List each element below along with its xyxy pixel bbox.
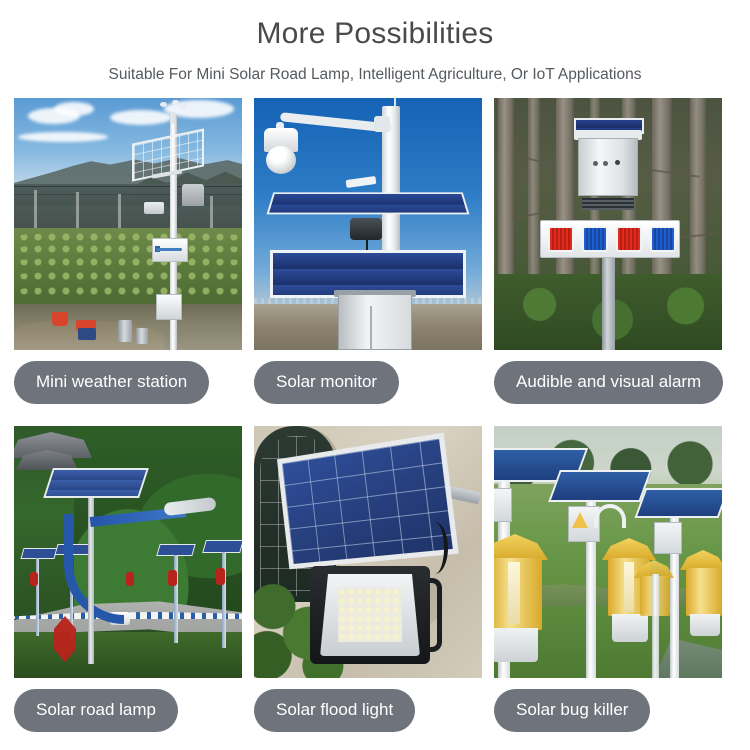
photo-solar-monitor	[254, 98, 482, 350]
distant-lamp-pole	[36, 558, 39, 636]
gallery-item[interactable]: Solar monitor	[254, 98, 482, 404]
caption-solar-bug-killer[interactable]: Solar bug killer	[494, 689, 650, 732]
greenhouse-post	[118, 194, 121, 230]
alarm-lamp-blue	[582, 226, 608, 252]
caption-solar-monitor[interactable]: Solar monitor	[254, 361, 399, 404]
anemometer-cup	[172, 100, 179, 105]
distant-lamp-pole	[222, 552, 226, 648]
greenhouse-post	[76, 192, 79, 230]
caption-mini-weather-station[interactable]: Mini weather station	[14, 361, 209, 404]
anemometer-cup	[180, 104, 187, 109]
alarm-pole	[602, 244, 615, 350]
sensor-hole	[603, 161, 608, 166]
gallery-item[interactable]: Audible and visual alarm	[494, 98, 722, 404]
greenhouse-netting	[14, 184, 242, 230]
page-title: More Possibilities	[0, 14, 750, 54]
crop-row	[14, 257, 242, 268]
photo-audible-visual-alarm	[494, 98, 722, 350]
caption-solar-road-lamp[interactable]: Solar road lamp	[14, 689, 178, 732]
solar-panel	[548, 470, 652, 502]
caption-solar-flood-light[interactable]: Solar flood light	[254, 689, 415, 732]
alarm-lamp-red	[548, 226, 574, 252]
upper-solar-panel	[267, 192, 470, 214]
cabinet-door-seam	[370, 306, 372, 350]
crop-row	[14, 286, 242, 297]
uv-tube	[508, 562, 520, 624]
photo-solar-road-lamp	[14, 426, 242, 678]
caption-audible-and-visual-alarm[interactable]: Audible and visual alarm	[494, 361, 723, 404]
alarm-lamp-red	[616, 226, 642, 252]
ptz-dome-camera	[266, 146, 296, 174]
photo-mini-weather-station	[14, 98, 242, 350]
insect-lamp-cage	[686, 568, 722, 616]
gallery-item[interactable]: Solar bug killer	[494, 426, 722, 732]
greenhouse-post	[34, 190, 37, 230]
gallery-item[interactable]: Solar road lamp	[14, 426, 242, 732]
lamp-pole	[652, 574, 659, 678]
chinese-knot-decoration	[216, 568, 225, 585]
photo-solar-flood-light	[254, 426, 482, 678]
uv-tube	[624, 562, 634, 612]
photo-solar-bug-killer	[494, 426, 722, 678]
sensor-hole	[593, 161, 598, 166]
distant-solar-panel	[20, 548, 57, 559]
application-gallery-grid: Mini weather station	[14, 98, 722, 732]
chinese-knot-decoration	[126, 572, 134, 586]
cloud-shape	[110, 110, 172, 125]
collection-cup	[494, 628, 538, 662]
support-hook	[594, 504, 626, 528]
foreground-grass	[14, 632, 242, 678]
enclosure-label-stripe	[156, 248, 182, 251]
crop-row	[14, 271, 242, 282]
cloud-shape	[18, 132, 108, 142]
speaker-vent	[582, 198, 634, 210]
controller-box	[654, 522, 682, 554]
greenhouse-cable	[14, 186, 242, 187]
red-bucket	[52, 312, 68, 326]
page-subtitle: Suitable For Mini Solar Road Lamp, Intel…	[0, 64, 750, 86]
greenhouse-cable	[14, 194, 242, 195]
metal-canister	[136, 328, 148, 344]
cloud-shape	[54, 102, 94, 116]
distant-lamp-pole	[174, 555, 178, 643]
crop-row	[14, 232, 242, 243]
greenhouse-post	[210, 196, 213, 230]
collection-cup	[690, 614, 720, 636]
led-array	[338, 588, 402, 642]
page-header: More Possibilities Suitable For Mini Sol…	[0, 0, 750, 86]
gallery-item[interactable]: Solar flood light	[254, 426, 482, 732]
caption-wrap: Solar flood light	[254, 689, 482, 732]
anemometer-shaft	[172, 112, 175, 124]
solar-panel	[635, 488, 722, 518]
metal-canister	[118, 320, 132, 342]
controller-box	[350, 218, 382, 240]
camera-lens	[615, 160, 620, 165]
caption-wrap: Audible and visual alarm	[494, 361, 722, 404]
caption-wrap: Mini weather station	[14, 361, 242, 404]
battery-enclosure	[156, 294, 182, 320]
caption-wrap: Solar bug killer	[494, 689, 722, 732]
blue-object	[78, 328, 96, 340]
alarm-enclosure	[578, 138, 638, 196]
chinese-knot-decoration	[30, 572, 38, 586]
chinese-knot-decoration	[168, 570, 177, 586]
gallery-item[interactable]: Mini weather station	[14, 98, 242, 404]
anemometer-cup	[160, 102, 167, 107]
radiation-shield	[144, 202, 164, 214]
crop-row	[14, 244, 242, 255]
alarm-lamp-blue	[650, 226, 676, 252]
arm-joint	[374, 116, 390, 132]
caption-wrap: Solar monitor	[254, 361, 482, 404]
main-solar-panel	[43, 468, 149, 498]
rain-gauge	[182, 184, 204, 206]
collection-cup	[612, 614, 648, 642]
controller-box	[494, 488, 512, 522]
product-application-page: More Possibilities Suitable For Mini Sol…	[0, 0, 750, 750]
equipment-cabinet	[338, 294, 412, 350]
caption-wrap: Solar road lamp	[14, 689, 242, 732]
